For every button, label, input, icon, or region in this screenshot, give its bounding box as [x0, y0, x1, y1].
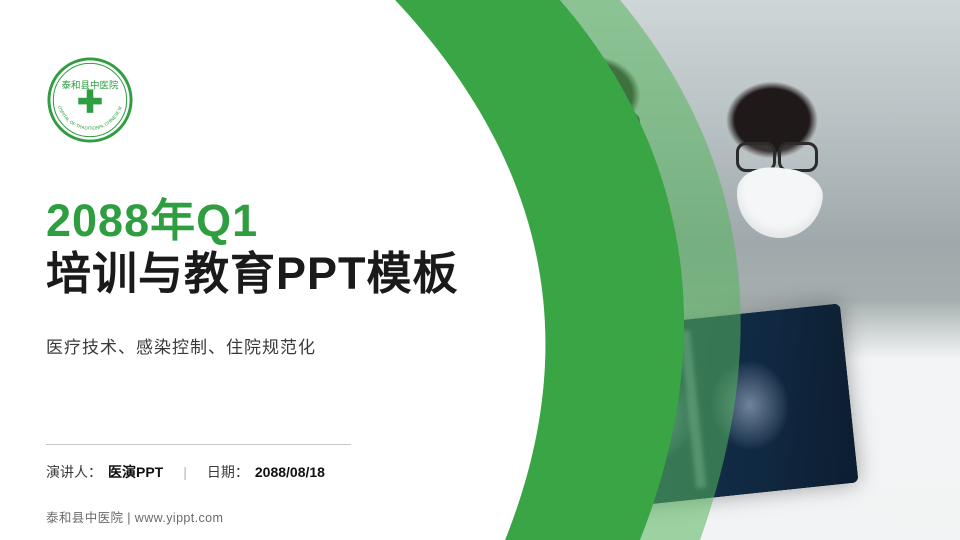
date-label: 日期：	[207, 462, 249, 482]
logo-arc-text: TAIHE HOSPITAL OF TRADITIONAL CHINESE ME…	[46, 56, 123, 131]
speaker-label: 演讲人：	[46, 462, 102, 482]
speaker-value: 医演PPT	[108, 462, 163, 482]
hospital-logo: 泰和县中医院 TAIHE HOSPITAL OF TRADITIONAL CHI…	[46, 56, 134, 144]
meta-separator: |	[183, 464, 187, 480]
slide-title-line1: 2088年Q1	[46, 196, 476, 246]
date-value: 2088/08/18	[255, 464, 325, 480]
slide-meta: 演讲人： 医演PPT | 日期： 2088/08/18	[46, 462, 325, 482]
hero-photo	[400, 0, 960, 540]
presentation-slide: 泰和县中医院 TAIHE HOSPITAL OF TRADITIONAL CHI…	[0, 0, 960, 540]
slide-footer: 泰和县中医院 | www.yippt.com	[46, 507, 223, 526]
slide-subtitle: 医疗技术、感染控制、住院规范化	[46, 333, 316, 358]
medical-cross-icon	[78, 89, 101, 112]
slide-title-line2: 培训与教育PPT模板	[46, 248, 476, 300]
divider-line	[46, 444, 351, 445]
title-block: 2088年Q1 培训与教育PPT模板	[46, 196, 476, 300]
